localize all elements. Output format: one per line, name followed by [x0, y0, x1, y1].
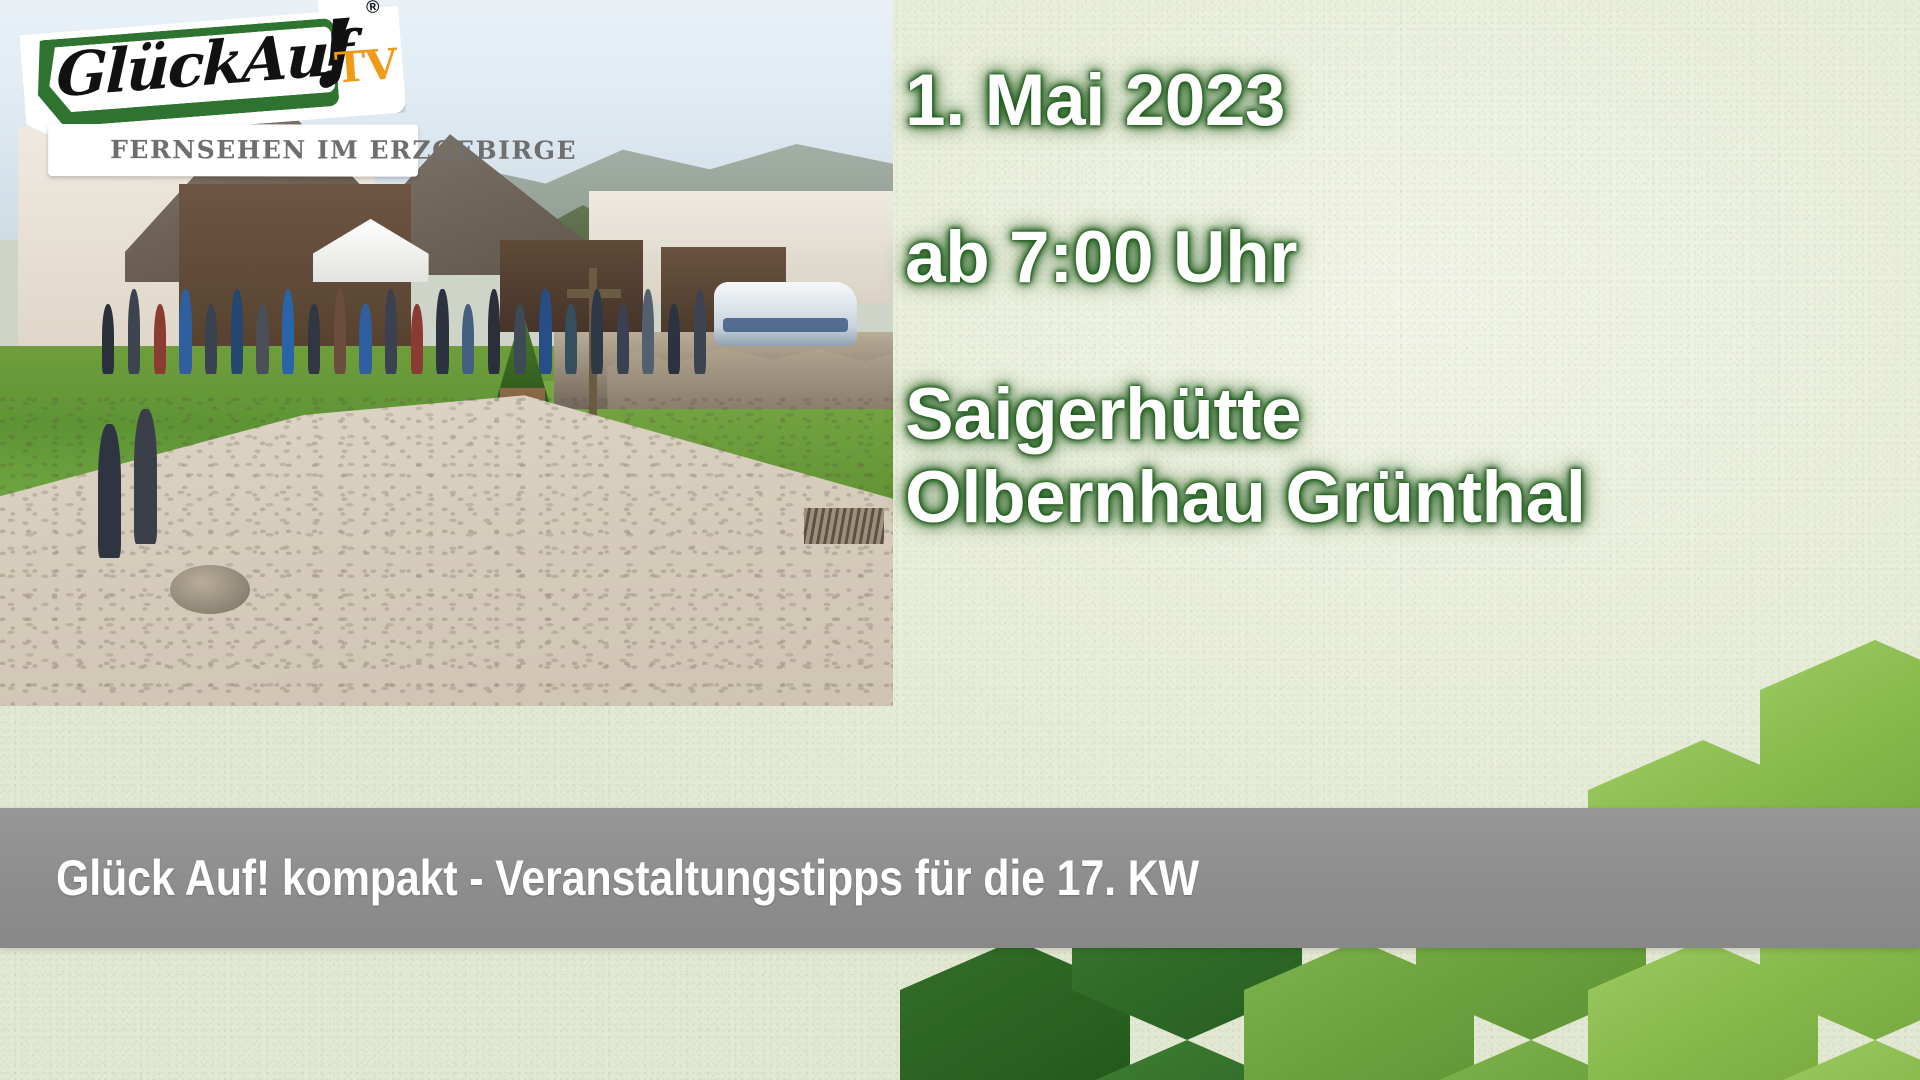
broadcast-lower-third-slide: 1. Mai 2023 ab 7:00 Uhr Saigerhütte Olbe… [0, 0, 1920, 1080]
photo-person [205, 304, 217, 374]
photo-person [462, 304, 474, 374]
banner-text-wrapper: Glück Auf! kompakt - Veranstaltungstipps… [56, 849, 1385, 907]
photo-person [591, 289, 603, 374]
logo-tagline-ribbon: FERNSEHEN IM ERZGEBIRGE [48, 124, 418, 177]
photo-person [359, 304, 371, 374]
photo-person [308, 304, 320, 374]
photo-person [334, 289, 346, 374]
event-time: ab 7:00 Uhr [905, 221, 1905, 294]
photo-person [436, 289, 448, 374]
photo-person [694, 289, 706, 374]
logo-tv-suffix: TV [333, 39, 398, 93]
event-venue-line2: Olbernhau Grünthal [905, 461, 1905, 534]
photo-person [668, 304, 680, 374]
photo-person [514, 304, 526, 374]
photo-person-foreground [98, 424, 121, 558]
glueckauf-tv-logo: GlückAuf ! ® TV FERNSEHEN IM ERZGEBIRGE [18, 0, 420, 187]
photo-person [385, 289, 397, 374]
photo-person [539, 289, 551, 374]
photo-person [154, 304, 166, 374]
photo-person [256, 304, 268, 374]
event-venue-line1: Saigerhütte [905, 378, 1905, 451]
photo-drain-grate [804, 508, 884, 543]
photo-person [102, 304, 114, 374]
photo-van-stripe [723, 318, 848, 332]
photo-person [128, 289, 140, 374]
photo-person-foreground [134, 409, 157, 543]
lower-third-banner: Glück Auf! kompakt - Veranstaltungstipps… [0, 808, 1920, 948]
photo-person [488, 289, 500, 374]
photo-person [231, 289, 243, 374]
registered-trademark-icon: ® [365, 0, 380, 18]
event-date: 1. Mai 2023 [905, 64, 1905, 137]
photo-crowd [89, 261, 732, 374]
logo-tagline-text: FERNSEHEN IM ERZGEBIRGE [110, 135, 577, 165]
banner-title: Glück Auf! kompakt - Veranstaltungstipps… [56, 849, 1199, 907]
photo-person [179, 289, 191, 374]
photo-delivery-van [714, 282, 857, 346]
photo-manhole-cover [170, 565, 250, 614]
photo-person [642, 289, 654, 374]
photo-person [617, 304, 629, 374]
photo-person [282, 289, 294, 374]
event-info-block: 1. Mai 2023 ab 7:00 Uhr Saigerhütte Olbe… [905, 64, 1905, 534]
photo-person [565, 304, 577, 374]
photo-person [411, 304, 423, 374]
